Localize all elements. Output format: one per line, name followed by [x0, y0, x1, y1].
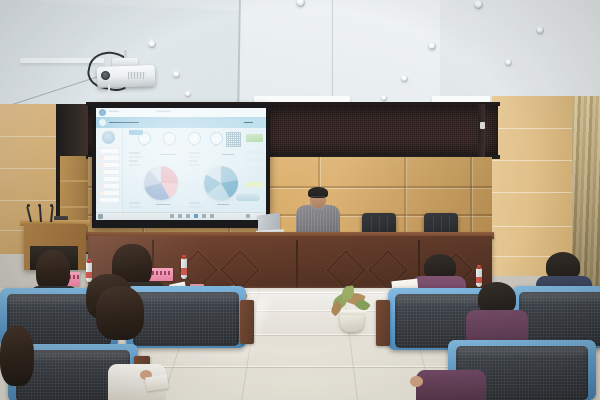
wall-right-seam-2	[492, 160, 578, 161]
microphone-head-3	[50, 204, 53, 207]
downlight-4	[428, 42, 436, 50]
wall-right-seam-4	[492, 226, 578, 227]
bottle-label-1	[86, 272, 92, 278]
pie-left-header: ▬▬▬▬▬▬	[146, 153, 190, 156]
sidebar-item-8[interactable]	[99, 197, 120, 203]
projector-lens-icon	[101, 71, 110, 80]
pie-chart-left	[144, 166, 178, 200]
taskbar-icon-1[interactable]	[170, 214, 174, 218]
alcove-shelf-2	[60, 206, 88, 208]
kpi-label-1: ▭▭	[135, 144, 152, 147]
dashboard-home-icon[interactable]	[99, 119, 106, 126]
projector-vent	[128, 72, 146, 79]
bottle-label-2	[181, 268, 187, 275]
alcove-shelf-1	[60, 180, 88, 182]
seat-desk-arm-1	[240, 300, 254, 344]
legend-row-r1	[189, 152, 200, 154]
kpi-label-2: ▭▭	[160, 144, 177, 147]
legend-row-r6	[189, 206, 202, 208]
tab-active[interactable]	[129, 130, 143, 135]
presenter-glasses-icon	[311, 196, 325, 200]
rail-widget-3[interactable]	[246, 166, 263, 171]
rail-widget-2[interactable]	[246, 158, 263, 163]
wall-switch-icon[interactable]	[480, 122, 485, 129]
pie-left-caption: ▬▬▬▬▬▬	[146, 203, 180, 206]
attendee-man-4-torso	[416, 370, 486, 400]
sidebar-item-7[interactable]	[99, 190, 120, 196]
pie-right-header: ▬▬▬▬▬	[206, 153, 250, 156]
downlight-2	[474, 0, 483, 9]
sidebar-item-4[interactable]	[99, 169, 120, 175]
rail-widget-1[interactable]	[246, 150, 263, 155]
legend-row-l4	[129, 164, 141, 166]
legend-row-r4	[189, 164, 201, 166]
downlight-1	[296, 0, 305, 7]
browser-address-label: ▭▭▭▭▭▭	[156, 110, 171, 113]
microphone-head-1	[27, 204, 30, 207]
downlight-8	[381, 95, 387, 101]
plant-pot-right	[340, 312, 364, 332]
taskbar-icon-2[interactable]	[178, 214, 182, 218]
kpi-label-4: ▭▭	[207, 144, 224, 147]
attendee-woman-4-hair	[0, 326, 34, 386]
qr-code-icon	[226, 132, 241, 147]
legend-row-l5	[129, 202, 140, 204]
sidebar-item-2[interactable]	[99, 155, 120, 161]
dashboard-title: ▬▬▬▬▬▬▬▬▬▬	[109, 120, 139, 124]
downlight-11	[505, 59, 512, 66]
browser-tab-label: ▭▭▭▭	[109, 110, 119, 113]
sidebar-item-1[interactable]	[99, 148, 120, 154]
kpi-label-3: ▭▭	[185, 144, 202, 147]
legend-row-r5	[189, 202, 200, 204]
downlight-12	[536, 26, 544, 34]
legend-row-l2	[129, 156, 142, 158]
pie-right-caption: ▬▬▬▬▬	[206, 203, 240, 206]
downlight-6	[401, 75, 408, 82]
downlight-5	[173, 71, 180, 78]
legend-row-l1	[129, 152, 140, 154]
legend-row-r2	[189, 156, 202, 158]
attendee-man-4-hand	[410, 376, 423, 387]
floating-chat-button[interactable]	[236, 194, 260, 201]
taskbar-icon-6[interactable]	[210, 214, 214, 218]
meeting-room-photo: ▭▭▭▭ ▭▭▭▭▭▭ ▬▬▬▬▬▬▬▬▬▬ ▬▬▬ ▭▭ ▭▭ ▭▭ ▭▭	[0, 0, 600, 400]
downlight-7	[185, 91, 191, 97]
pie-chart-right	[204, 166, 238, 200]
microphone-head-2	[38, 204, 41, 207]
user-avatar	[102, 131, 115, 144]
rail-widget-4[interactable]	[246, 174, 263, 179]
seat-desk-arm-2	[376, 300, 390, 346]
dashboard-user-menu[interactable]: ▬▬▬	[244, 120, 253, 124]
attendee-woman-5-hair	[96, 286, 144, 340]
sidebar-item-6[interactable]	[99, 183, 120, 189]
legend-row-l3	[129, 160, 138, 162]
projection-screen[interactable]: ▭▭▭▭ ▭▭▭▭▭▭ ▬▬▬▬▬▬▬▬▬▬ ▬▬▬ ▭▭ ▭▭ ▭▭ ▭▭	[96, 108, 266, 220]
bottle-cap-1	[87, 259, 91, 263]
rail-widget-5[interactable]	[246, 182, 263, 187]
plant-pot-rim-right	[337, 310, 367, 315]
taskbar-icon-3[interactable]	[186, 214, 190, 218]
led-side-post	[478, 104, 485, 158]
wall-right-seam-3	[492, 192, 578, 193]
app-logo-icon	[99, 109, 106, 116]
taskbar-clock[interactable]	[246, 214, 250, 218]
sidebar-item-3[interactable]	[99, 162, 120, 168]
start-button-icon[interactable]	[98, 214, 103, 219]
bottle-cap-2	[182, 255, 186, 259]
legend-row-r3	[189, 160, 198, 162]
taskbar-icon-4[interactable]	[194, 214, 198, 218]
wall-panel-right	[492, 96, 578, 276]
wall-right-seam-1	[492, 128, 578, 129]
sidebar-item-5[interactable]	[99, 176, 120, 182]
bottle-cap-3	[477, 265, 481, 269]
downlight-3	[148, 40, 156, 48]
bottle-label-3	[476, 277, 482, 283]
taskbar-icon-5[interactable]	[202, 214, 206, 218]
legend-row-l6	[129, 206, 142, 208]
primary-action-button[interactable]	[246, 134, 263, 142]
